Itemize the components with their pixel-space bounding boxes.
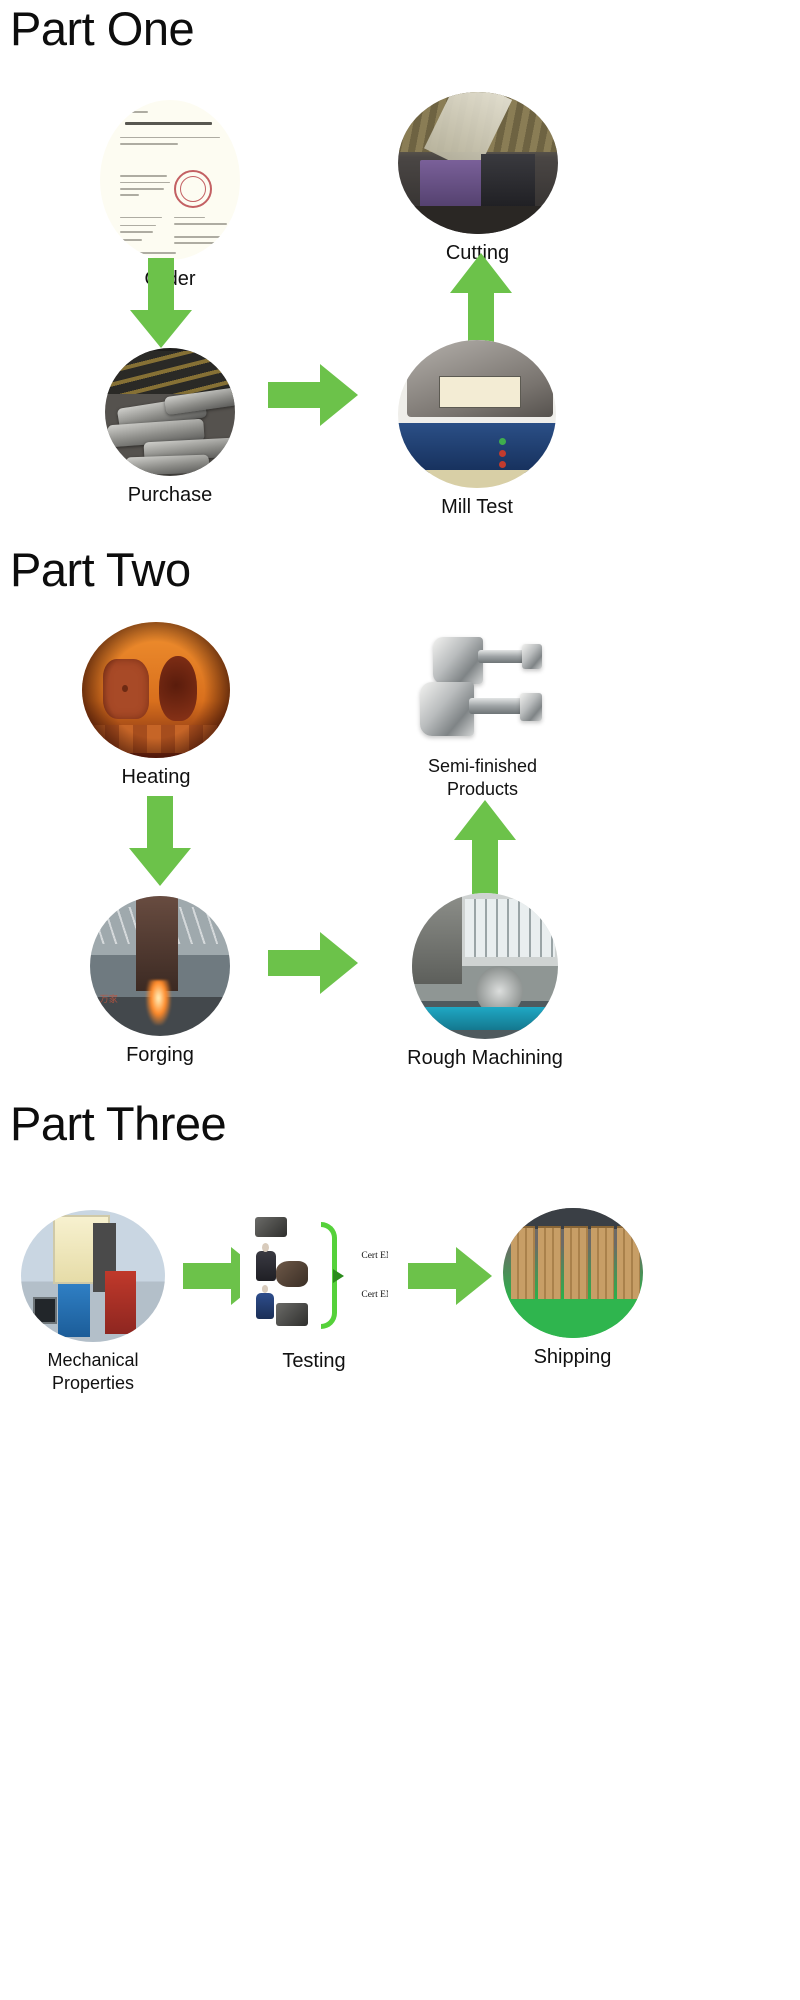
node-purchase-label: Purchase [95,483,245,509]
mill-test-machine-photo [398,340,556,488]
node-forging[interactable]: 万家 Forging [90,896,230,1069]
node-mechanical-properties[interactable]: Mechanical Properties [18,1210,168,1395]
cert-label-2: Cert EN10204/3.2 [361,1290,388,1300]
arrow-testing-to-shipping [408,1245,494,1307]
node-shipping[interactable]: Shipping [500,1208,645,1371]
node-testing[interactable]: Cert EN10204/3.1 Cert EN10204/3.2 Testin… [240,1212,388,1375]
cutting-workshop-photo [398,92,558,234]
shipping-crates-photo [503,1208,643,1338]
steel-billets-photo [105,348,235,476]
node-shipping-label: Shipping [500,1345,645,1371]
mechanical-testing-lab-photo [21,1210,165,1342]
node-semi-finished[interactable]: Semi-finished Products [400,630,565,801]
arrow-purchase-to-mill-test [268,362,360,428]
arrow-order-to-purchase [128,258,194,350]
node-rough-machining[interactable]: Rough Machining [395,893,575,1072]
node-forging-label: Forging [90,1043,230,1069]
testing-collage-photo: Cert EN10204/3.1 Cert EN10204/3.2 [240,1212,388,1342]
node-mill-test-label: Mill Test [392,495,562,521]
node-heating-label: Heating [82,765,230,791]
rough-machining-lathe-photo [412,893,558,1039]
section-title-part-three: Part Three [10,1100,226,1147]
certificate-brace-tip-icon [333,1269,344,1283]
section-title-part-one: Part One [10,5,194,52]
section-title-part-two: Part Two [10,546,191,593]
node-purchase[interactable]: Purchase [95,348,245,509]
node-heating[interactable]: Heating [82,622,230,791]
node-cutting[interactable]: Cutting [395,92,560,267]
forging-press-photo: 万家 [90,896,230,1036]
node-mill-test[interactable]: Mill Test [392,340,562,521]
node-semi-finished-label: Semi-finished Products [400,755,565,801]
arrow-rough-machining-to-semi-finished [452,800,518,896]
node-testing-label: Testing [240,1349,388,1375]
order-certificate-photo [100,100,240,260]
arrow-forging-to-rough-machining [268,930,360,996]
arrow-heating-to-forging [127,796,193,888]
node-rough-machining-label: Rough Machining [395,1046,575,1072]
furnace-heating-photo [82,622,230,758]
process-flow-poster: Part One [0,0,800,2000]
arrow-mill-test-to-cutting [448,253,514,349]
semi-finished-parts-photo [400,630,565,748]
node-mechanical-properties-label: Mechanical Properties [18,1349,168,1395]
cert-label-1: Cert EN10204/3.1 [361,1251,388,1261]
